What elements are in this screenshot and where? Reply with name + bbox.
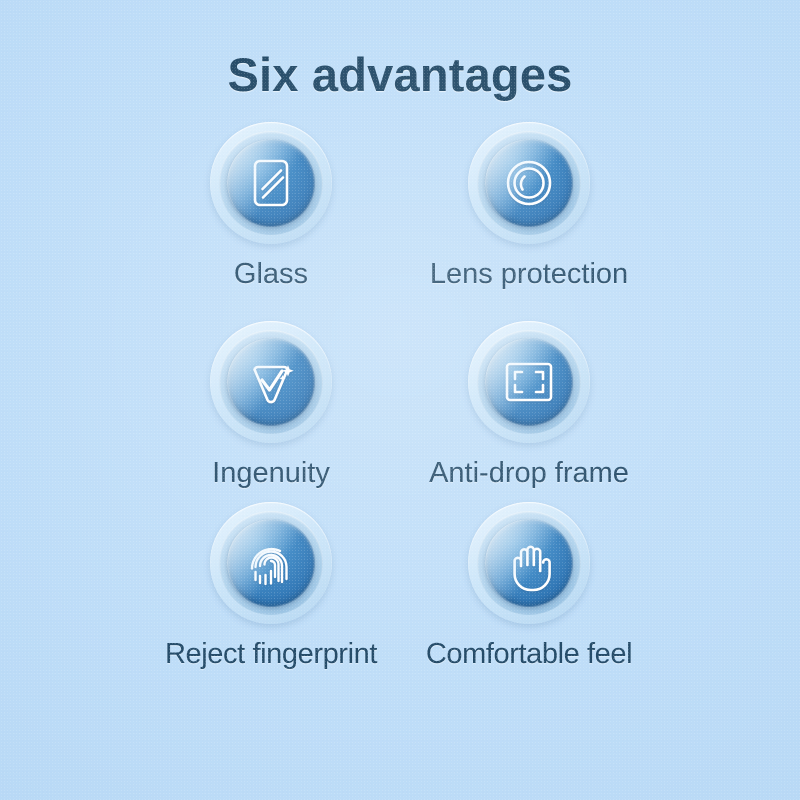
badge-disc: [485, 139, 573, 227]
feature-badge[interactable]: [468, 321, 590, 443]
feature-item-comfortable-feel[interactable]: Comfortable feel: [400, 502, 658, 671]
feature-item-ingenuity[interactable]: Ingenuity: [142, 321, 400, 490]
feature-badge[interactable]: [468, 502, 590, 624]
badge-disc: [227, 338, 315, 426]
feature-badge[interactable]: [210, 502, 332, 624]
badge-disc: [485, 519, 573, 607]
tempered-glass-icon: [227, 139, 315, 227]
features-grid: Glass: [0, 122, 800, 671]
feature-label: Reject fingerprint: [165, 638, 377, 671]
feature-item-anti-drop-frame[interactable]: Anti-drop frame: [400, 321, 658, 490]
corner-frame-icon: [485, 338, 573, 426]
page-title: Six advantages: [0, 47, 800, 102]
feature-item-glass[interactable]: Glass: [142, 122, 400, 291]
feature-badge[interactable]: [468, 122, 590, 244]
feature-item-lens-protection[interactable]: Lens protection: [400, 122, 658, 291]
camera-lens-icon: [485, 139, 573, 227]
feature-label: Lens protection: [430, 258, 628, 291]
feature-badge[interactable]: [210, 122, 332, 244]
badge-disc: [227, 139, 315, 227]
open-hand-icon: [485, 519, 573, 607]
features-row: Ingenuity: [0, 321, 800, 490]
feature-badge[interactable]: [210, 321, 332, 443]
features-row: Glass: [0, 122, 800, 291]
corner-frame-badge-disc: [485, 338, 573, 426]
feature-label: Comfortable feel: [426, 638, 632, 671]
feature-item-reject-fingerprint[interactable]: Reject fingerprint: [142, 502, 400, 671]
diamond-check-icon: [227, 338, 315, 426]
advantages-poster: Six advantages: [0, 0, 800, 800]
feature-label: Anti-drop frame: [429, 457, 629, 490]
feature-label: Ingenuity: [212, 457, 330, 490]
features-row: Reject fingerprint Comfortable feel: [0, 502, 800, 671]
feature-label: Glass: [234, 258, 308, 291]
fingerprint-icon: [227, 519, 315, 607]
badge-disc: [227, 519, 315, 607]
